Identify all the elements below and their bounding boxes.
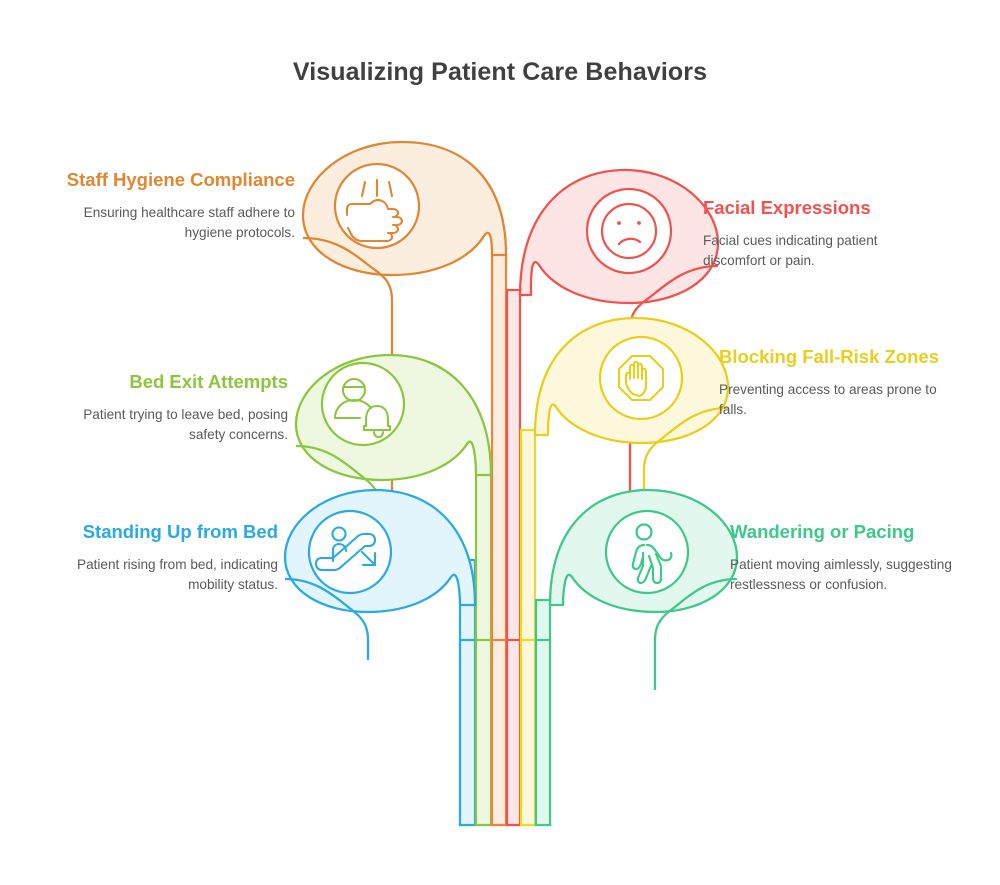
icon-ring-wandering: [606, 511, 688, 593]
node-heading: Standing Up from Bed: [48, 520, 278, 544]
node-heading: Bed Exit Attempts: [58, 370, 288, 394]
node-label-facial-expressions: Facial Expressions Facial cues indicatin…: [703, 196, 933, 271]
trunk-base-overlay: [460, 640, 550, 825]
node-heading: Blocking Fall-Risk Zones: [719, 345, 949, 369]
node-description: Ensuring healthcare staff adhere to hygi…: [65, 203, 295, 244]
node-description: Patient trying to leave bed, posing safe…: [58, 405, 288, 446]
node-label-staff-hygiene-compliance: Staff Hygiene Compliance Ensuring health…: [65, 168, 295, 243]
infographic-canvas: Visualizing Patient Care Behaviors: [0, 0, 1000, 885]
node-description: Patient moving aimlessly, suggesting res…: [730, 555, 960, 596]
node-heading: Facial Expressions: [703, 196, 933, 220]
node-label-bed-exit-attempts: Bed Exit Attempts Patient trying to leav…: [58, 370, 288, 445]
node-description: Preventing access to areas prone to fall…: [719, 380, 949, 421]
node-heading: Staff Hygiene Compliance: [65, 168, 295, 192]
node-label-standing-up-from-bed: Standing Up from Bed Patient rising from…: [48, 520, 278, 595]
node-description: Facial cues indicating patient discomfor…: [703, 231, 933, 272]
node-shape-wandering-or-pacing[interactable]: [550, 490, 737, 690]
node-heading: Wandering or Pacing: [730, 520, 960, 544]
node-label-blocking-fall-risk-zones: Blocking Fall-Risk Zones Preventing acce…: [719, 345, 949, 420]
icon-ring-bed-exit: [322, 363, 404, 445]
node-description: Patient rising from bed, indicating mobi…: [48, 555, 278, 596]
node-shape-standing-up-from-bed[interactable]: [285, 490, 475, 660]
node-label-wandering-or-pacing: Wandering or Pacing Patient moving aimle…: [730, 520, 960, 595]
icon-ring-facial-expressions: [587, 189, 671, 273]
icon-ring-standing-up: [309, 511, 391, 593]
